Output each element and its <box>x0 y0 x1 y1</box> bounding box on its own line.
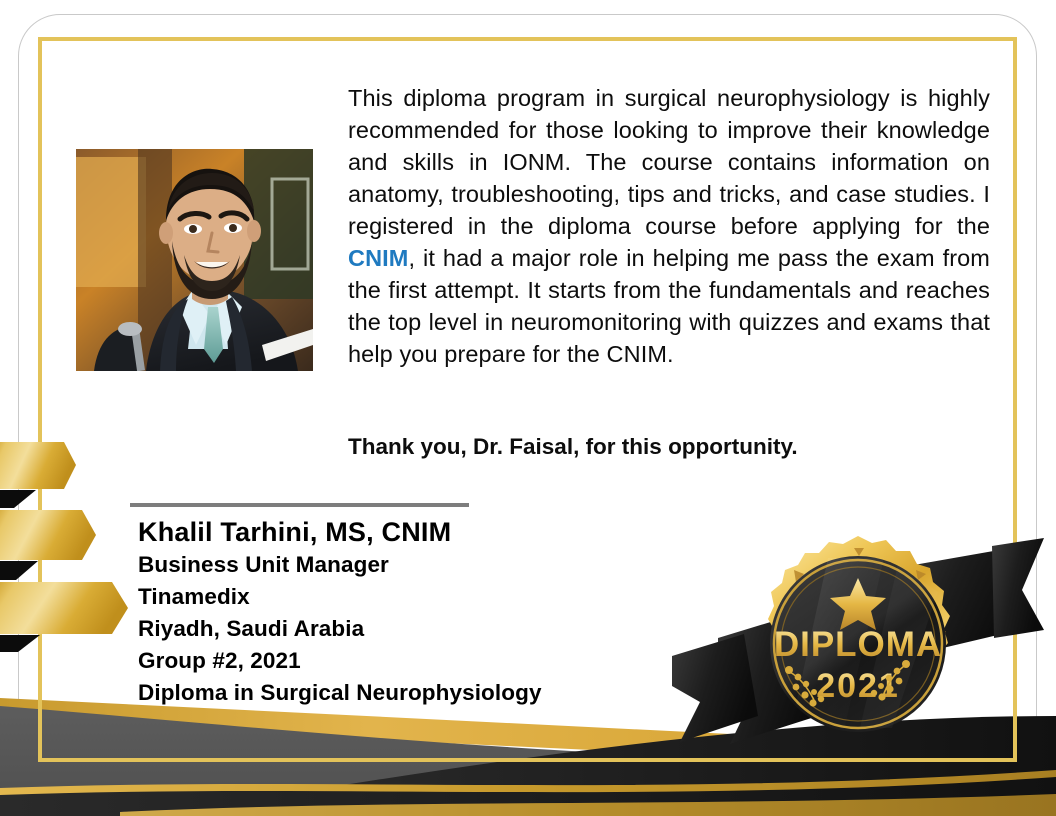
signature-divider <box>130 503 469 507</box>
signature-program: Diploma in Surgical Neurophysiology <box>138 677 658 709</box>
gold-ribbon-decoration <box>0 432 160 652</box>
seal-laurel-right-icon <box>871 660 910 701</box>
seal-ribbon-right <box>892 538 1044 660</box>
testimonial-text-part2: , it had a major role in helping me pass… <box>348 245 990 367</box>
seal-year-text: 2021 <box>816 667 900 705</box>
signature-group: Group #2, 2021 <box>138 645 658 677</box>
portrait-photo-image <box>76 149 313 371</box>
signature-company: Tinamedix <box>138 581 658 613</box>
seal-gold-scallop: DIPLOMA 2021 <box>768 536 950 732</box>
diploma-seal-badge: DIPLOMA 2021 <box>672 518 1044 770</box>
thank-you-line: Thank you, Dr. Faisal, for this opportun… <box>348 432 990 462</box>
testimonial-paragraph: This diploma program in surgical neuroph… <box>348 82 990 370</box>
seal-laurel-left-icon <box>785 666 824 707</box>
testimonial-slide: This diploma program in surgical neuroph… <box>0 0 1056 816</box>
signature-title: Business Unit Manager <box>138 549 658 581</box>
signature-block: Khalil Tarhini, MS, CNIM Business Unit M… <box>138 515 658 709</box>
seal-title-text: DIPLOMA <box>774 625 942 664</box>
signature-location: Riyadh, Saudi Arabia <box>138 613 658 645</box>
seal-ribbon-left <box>672 610 824 744</box>
seal-star-icon <box>830 578 886 630</box>
portrait-photo <box>76 149 313 371</box>
signature-name: Khalil Tarhini, MS, CNIM <box>138 515 658 549</box>
cnim-highlight: CNIM <box>348 245 408 271</box>
testimonial-text-part1: This diploma program in surgical neuroph… <box>348 85 990 239</box>
